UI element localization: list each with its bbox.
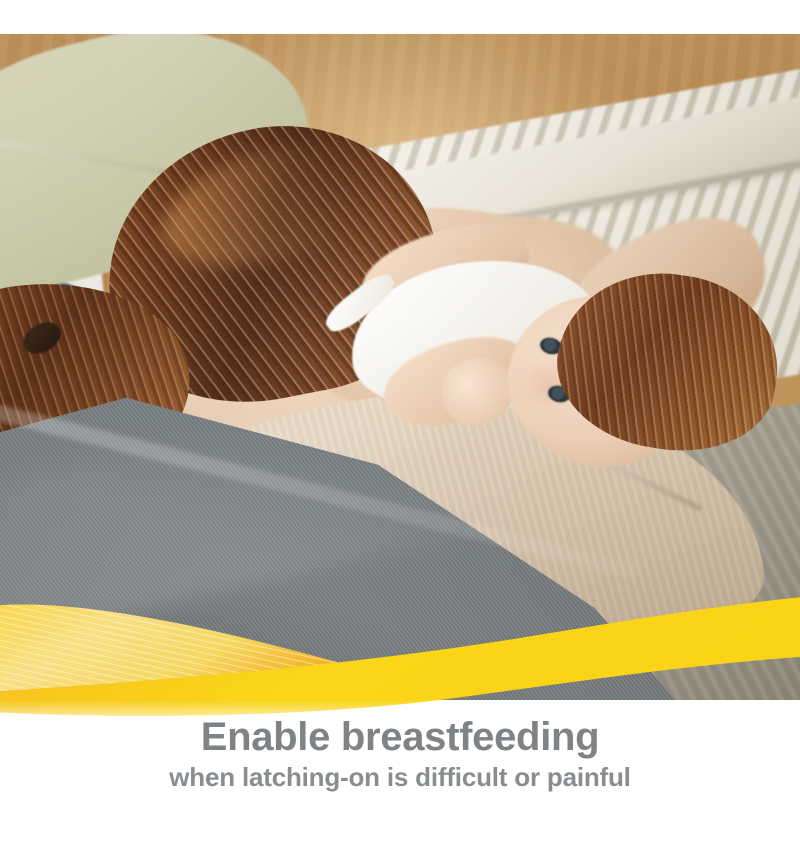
caption-block: Enable breastfeeding when latching-on is… bbox=[0, 716, 800, 793]
promotional-banner: Enable breastfeeding when latching-on is… bbox=[0, 0, 800, 850]
yellow-swoosh-divider bbox=[0, 560, 800, 730]
caption-subtitle: when latching-on is difficult or painful bbox=[0, 763, 800, 792]
caption-title: Enable breastfeeding bbox=[0, 716, 800, 758]
